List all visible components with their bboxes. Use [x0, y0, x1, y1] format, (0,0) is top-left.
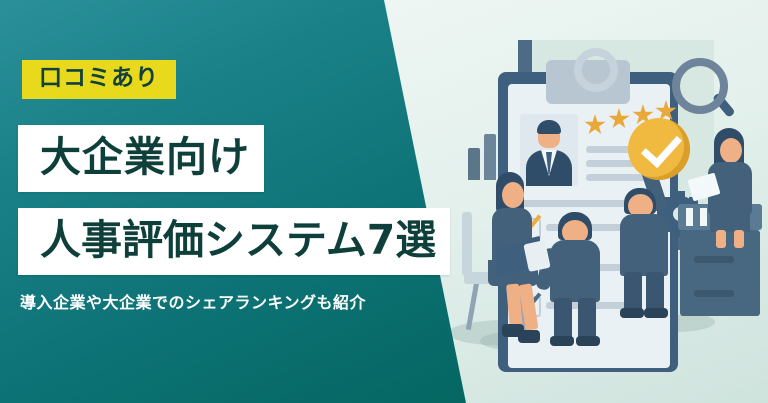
tablet: [523, 240, 550, 272]
person-man-raising-coin: [618, 160, 698, 325]
page-subtitle: 導入企業や大企業でのシェアランキングも紹介: [20, 290, 420, 316]
leg: [716, 230, 726, 248]
leg: [624, 272, 642, 312]
cabinet-handle: [694, 256, 734, 263]
shoe: [550, 336, 574, 346]
leg: [578, 298, 596, 340]
shoe: [620, 308, 644, 318]
head: [502, 182, 524, 208]
leg: [734, 230, 744, 248]
person-woman-document: [698, 128, 768, 248]
head: [720, 138, 742, 163]
review-badge: 口コミあり: [22, 60, 176, 99]
clipboard-ring: [574, 48, 618, 92]
page-title-line-2: 人事評価システム7選: [18, 208, 450, 275]
page-title-line-1: 大企業向け: [18, 125, 264, 192]
hero-banner: 口コミあり 大企業向け 人事評価システム7選 導入企業や大企業でのシェアランキン…: [0, 0, 768, 403]
skirt: [710, 210, 750, 232]
avatar-hair: [537, 120, 561, 134]
chair-back: [462, 212, 472, 276]
chair-leg: [466, 282, 479, 330]
torso: [620, 214, 668, 276]
approval-coin-icon: [628, 118, 690, 180]
leg: [646, 272, 664, 312]
person-standing-man-tablet: [538, 212, 618, 342]
torso: [550, 240, 600, 302]
cabinet-handle: [694, 290, 734, 297]
shoe: [644, 308, 668, 318]
shoe: [576, 336, 600, 346]
magnifier-ring: [672, 58, 728, 114]
shoe: [518, 330, 540, 343]
leg: [554, 298, 572, 340]
illustration: [440, 0, 768, 403]
